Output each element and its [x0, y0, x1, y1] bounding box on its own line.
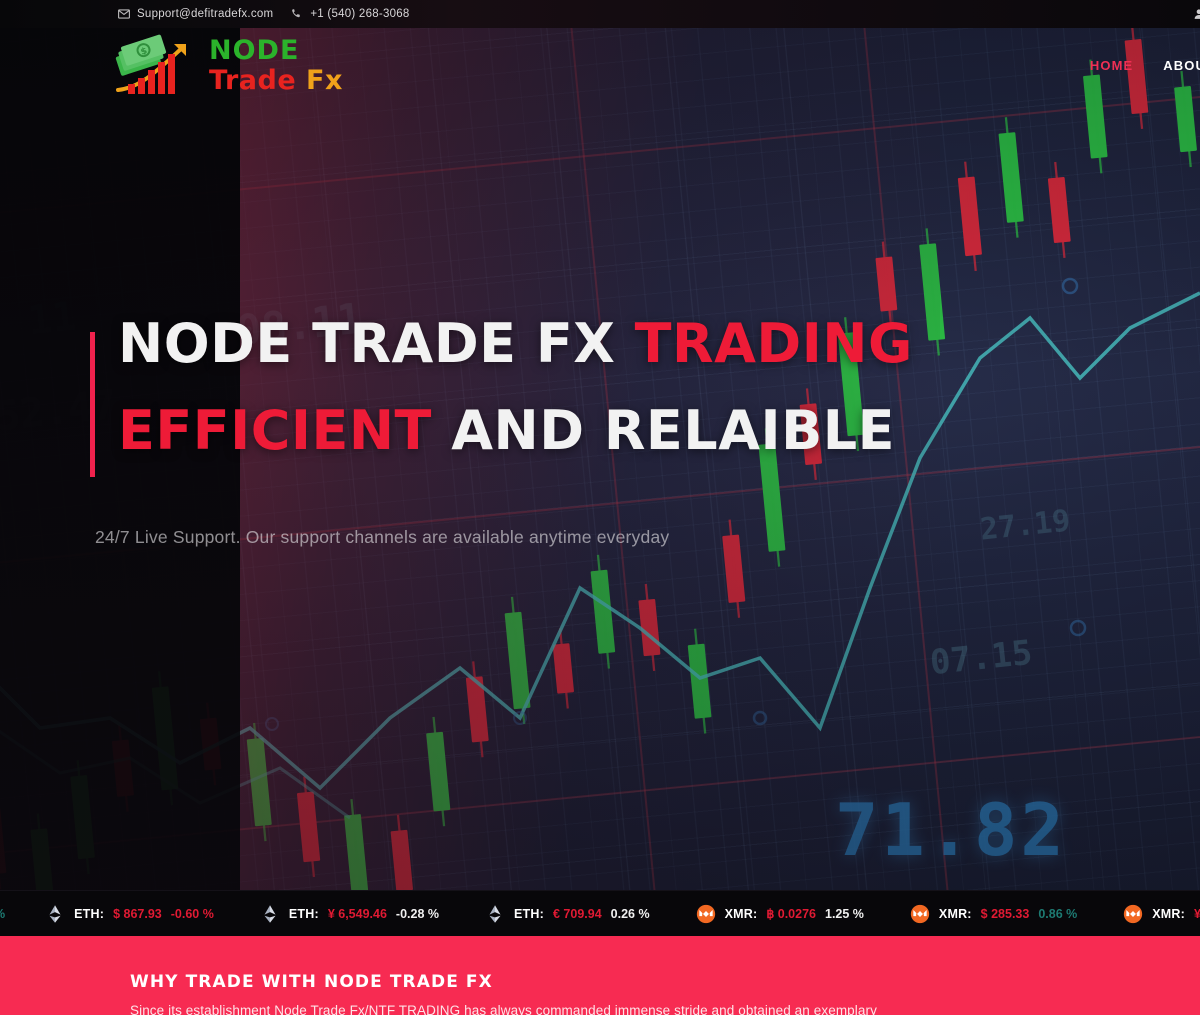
- page-root: Support@defitradefx.com +1 (540) 268-306…: [0, 0, 1200, 1015]
- nav-item-about-us[interactable]: ABOUT US: [1163, 58, 1200, 73]
- top-contact-bar: Support@defitradefx.com +1 (540) 268-306…: [0, 0, 1200, 28]
- ticker-item[interactable]: ETH:$ 867.93-0.60 %: [45, 904, 214, 924]
- ticker-price: € 709.94: [553, 907, 602, 921]
- ticker-item[interactable]: XMR:$ 285.330.86 %: [910, 904, 1077, 924]
- ticker-price: ฿ 0.0276: [766, 906, 816, 921]
- hero-heading-red-1: TRADING: [635, 312, 913, 375]
- main-navigation: HOME ABOUT US: [1090, 58, 1200, 73]
- ticker-symbol: ETH:: [289, 907, 319, 921]
- hero-subtitle: 24/7 Live Support. Our support channels …: [90, 527, 913, 548]
- hero-heading-line-1: NODE TRADE FX TRADING: [90, 300, 913, 387]
- money-growth-chart-icon: $: [112, 34, 200, 96]
- phone-icon: [291, 8, 303, 20]
- hero-heading-red-2: EFFICIENT: [118, 399, 432, 462]
- ticker-item[interactable]: ETH:¥ 6,549.46-0.28 %: [260, 904, 439, 924]
- contact-email-text: Support@defitradefx.com: [137, 8, 273, 20]
- site-logo[interactable]: $ NODE Trade Fx: [112, 34, 343, 96]
- ticker-change: -0.60 %: [171, 907, 214, 921]
- ticker-symbol: XMR:: [939, 907, 972, 921]
- envelope-icon: [118, 8, 130, 20]
- ticker-price: ¥ 1.8: [1194, 907, 1200, 921]
- ticker-item[interactable]: XMR:฿ 0.02761.25 %: [696, 904, 864, 924]
- ticker-symbol: XMR:: [1152, 907, 1185, 921]
- monero-icon: [910, 904, 930, 924]
- nav-item-home[interactable]: HOME: [1090, 58, 1133, 73]
- why-trade-heading: WHY TRADE WITH NODE TRADE FX: [130, 972, 1200, 992]
- ticker-price: ¥ 6,549.46: [328, 907, 387, 921]
- ethereum-icon: [45, 904, 65, 924]
- ticker-change: 0.26 %: [611, 907, 650, 921]
- logo-line-tradefx: Trade Fx: [209, 67, 343, 94]
- contact-phone[interactable]: +1 (540) 268-3068: [291, 8, 409, 20]
- monero-icon: [696, 904, 716, 924]
- contact-phone-text: +1 (540) 268-3068: [310, 8, 409, 20]
- why-trade-paragraph: Since its establishment Node Trade Fx/NT…: [130, 1003, 1200, 1015]
- hero-heading-white-2: AND RELAIBLE: [451, 399, 895, 462]
- ticker-change: 0.86 %: [1038, 907, 1077, 921]
- ticker-price: $ 285.33: [981, 907, 1030, 921]
- topbar-contacts: Support@defitradefx.com +1 (540) 268-306…: [118, 8, 410, 20]
- crypto-ticker-bar[interactable]: % ETH:$ 867.93-0.60 %ETH:¥ 6,549.46-0.28…: [0, 890, 1200, 936]
- logo-word-trade: Trade: [209, 65, 296, 96]
- why-trade-section: WHY TRADE WITH NODE TRADE FX Since its e…: [0, 936, 1200, 1015]
- ticker-symbol: ETH:: [74, 907, 104, 921]
- user-icon: [1193, 8, 1200, 20]
- hero-accent-bar: [90, 332, 95, 477]
- ticker-price: $ 867.93: [113, 907, 162, 921]
- ticker-change: 1.25 %: [825, 907, 864, 921]
- ethereum-icon: [485, 904, 505, 924]
- ticker-change: -0.28 %: [396, 907, 439, 921]
- logo-wordmark: NODE Trade Fx: [209, 37, 343, 94]
- logo-line-node: NODE: [209, 37, 343, 64]
- contact-email[interactable]: Support@defitradefx.com: [118, 8, 273, 20]
- logo-word-fx: Fx: [306, 65, 343, 96]
- monero-icon: [1123, 904, 1143, 924]
- hero-heading-line-2: EFFICIENT AND RELAIBLE: [90, 387, 913, 474]
- ticker-symbol: ETH:: [514, 907, 544, 921]
- hero-content: NODE TRADE FX TRADING EFFICIENT AND RELA…: [90, 300, 913, 548]
- hero-heading-white-1: NODE TRADE FX: [118, 312, 615, 375]
- ticker-item[interactable]: XMR:¥ 1.8: [1123, 904, 1200, 924]
- ticker-item[interactable]: ETH:€ 709.940.26 %: [485, 904, 650, 924]
- ethereum-icon: [260, 904, 280, 924]
- ticker-symbol: XMR:: [725, 907, 758, 921]
- login-link[interactable]: Lo: [1193, 7, 1200, 21]
